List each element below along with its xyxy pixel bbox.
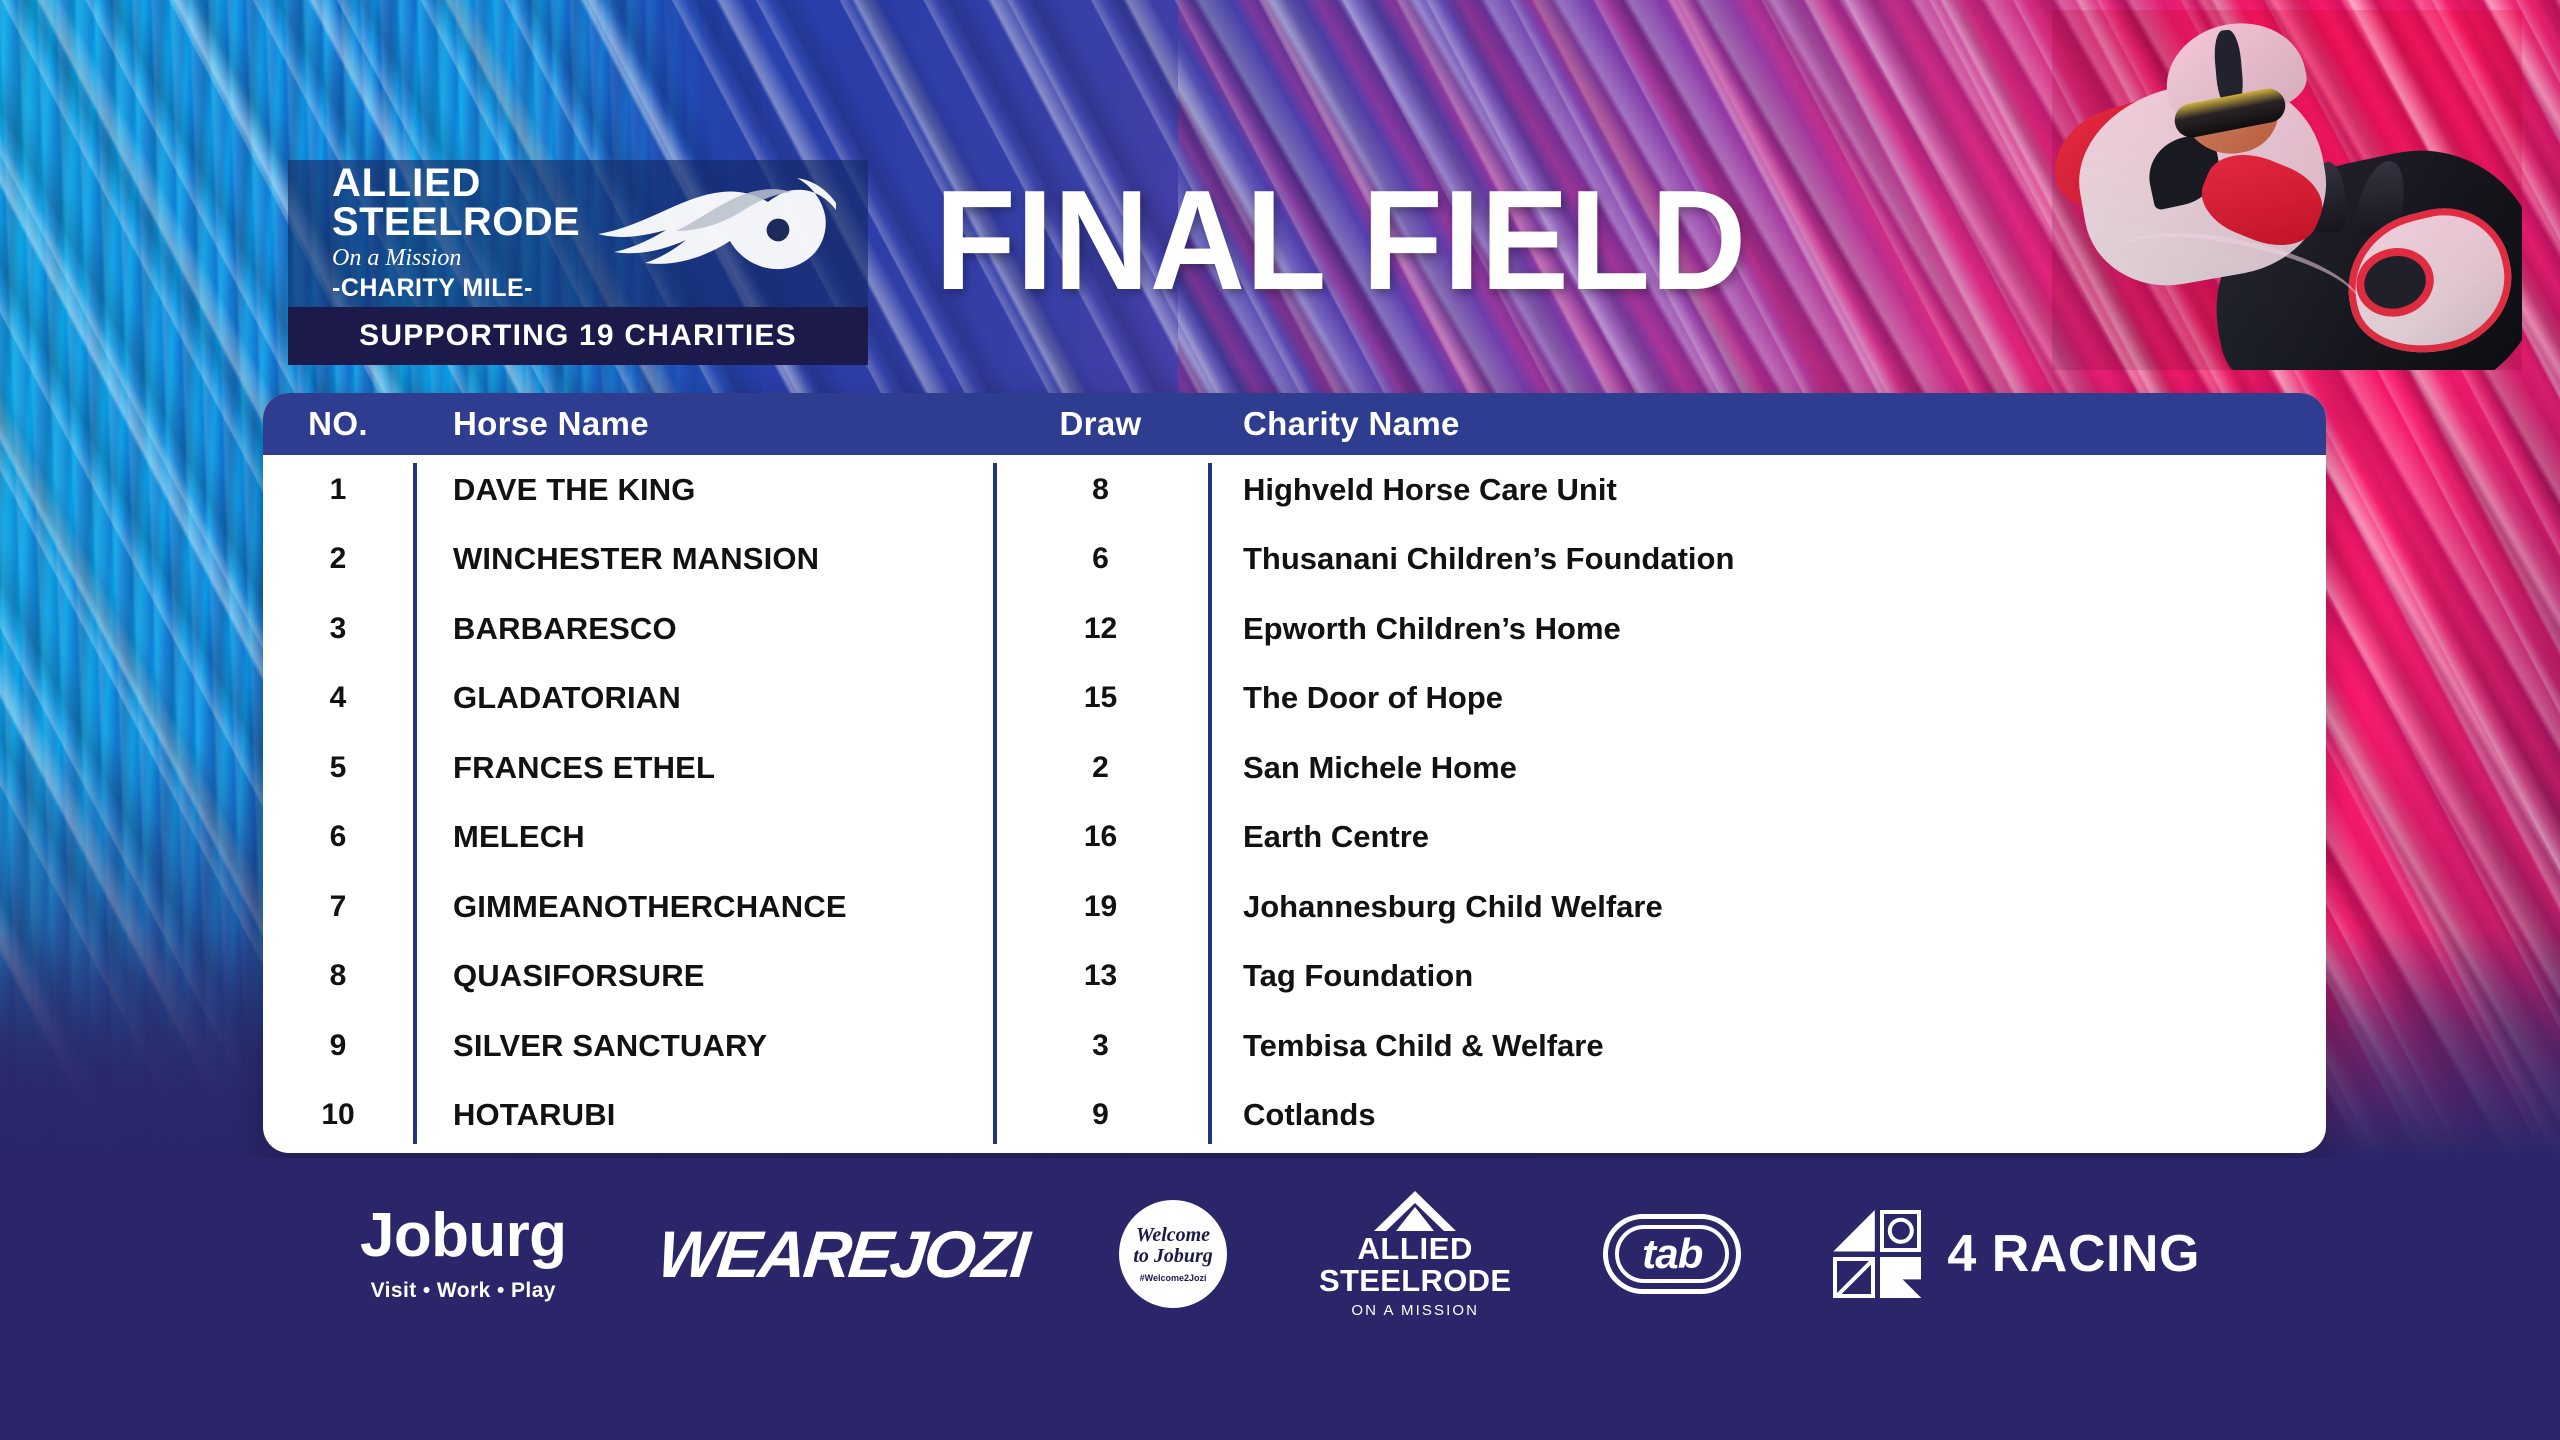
cell-no: 1 [263, 473, 413, 507]
allied-line3: ON A MISSION [1351, 1302, 1479, 1319]
cell-draw: 6 [993, 542, 1208, 576]
final-field-table-card: NO. Horse Name Draw Charity Name 1 DAVE … [263, 393, 2326, 1153]
cell-horse: DAVE THE KING [413, 472, 993, 508]
welcome-circle-badge: Welcome to Joburg #Welcome2Jozi [1119, 1200, 1227, 1308]
table-header-row: NO. Horse Name Draw Charity Name [263, 393, 2326, 455]
four-racing-mark-icon [1833, 1210, 1921, 1298]
supporting-charities-text: SUPPORTING 19 CHARITIES [359, 319, 797, 353]
tab-inner-frame: tab [1615, 1225, 1729, 1283]
table-row: 8 QUASIFORSURE 13 Tag Foundation [263, 942, 2326, 1012]
mark-quadrant-triangle [1833, 1210, 1875, 1252]
table-row: 2 WINCHESTER MANSION 6 Thusanani Childre… [263, 525, 2326, 595]
allied-steelrode-charity-mile-badge: ALLIED STEELRODE On a Mission -CHARITY M… [288, 160, 868, 365]
joburg-logo[interactable]: Joburg Visit • Work • Play [360, 1205, 566, 1303]
cell-no: 3 [263, 612, 413, 646]
welcome-line1: Welcome [1136, 1225, 1210, 1246]
cell-horse: WINCHESTER MANSION [413, 541, 993, 577]
cell-horse: GLADATORIAN [413, 680, 993, 716]
cell-no: 5 [263, 751, 413, 785]
welcome-hashtag: #Welcome2Jozi [1140, 1273, 1207, 1283]
cell-draw: 12 [993, 612, 1208, 646]
cell-draw: 8 [993, 473, 1208, 507]
cell-draw: 2 [993, 751, 1208, 785]
tab-logo[interactable]: tab [1603, 1214, 1741, 1294]
we-are-jozi-wordmark: WEAREJOZI [654, 1216, 1031, 1292]
cell-no: 9 [263, 1029, 413, 1063]
cell-draw: 16 [993, 820, 1208, 854]
table-row: 10 HOTARUBI 9 Cotlands [263, 1081, 2326, 1151]
cell-draw: 3 [993, 1029, 1208, 1063]
cell-horse: QUASIFORSURE [413, 958, 993, 994]
allied-line1: ALLIED [1357, 1233, 1473, 1265]
badge-wordmark: ALLIED STEELRODE On a Mission -CHARITY M… [288, 164, 580, 303]
cell-charity: Epworth Children’s Home [1208, 611, 2326, 647]
four-racing-wordmark: 4 RACING [1947, 1224, 2200, 1284]
table-row: 3 BARBARESCO 12 Epworth Children’s Home [263, 594, 2326, 664]
cell-no: 8 [263, 959, 413, 993]
cell-horse: HOTARUBI [413, 1097, 993, 1133]
sponsor-footer: Joburg Visit • Work • Play WEAREJOZI Wel… [0, 1158, 2560, 1440]
allied-line2: STEELRODE [1319, 1265, 1511, 1297]
table-row: 5 FRANCES ETHEL 2 San Michele Home [263, 733, 2326, 803]
tab-wordmark: tab [1642, 1230, 1702, 1278]
joburg-tagline: Visit • Work • Play [371, 1279, 556, 1303]
cell-charity: Tag Foundation [1208, 958, 2326, 994]
column-divider [1208, 463, 1212, 1144]
cell-draw: 19 [993, 890, 1208, 924]
page-title: FINAL FIELD [935, 170, 1747, 312]
tab-oval-frame: tab [1603, 1214, 1741, 1294]
mark-quadrant-circle [1880, 1210, 1922, 1252]
welcome-to-joburg-logo[interactable]: Welcome to Joburg #Welcome2Jozi [1119, 1200, 1227, 1308]
cell-horse: FRANCES ETHEL [413, 750, 993, 786]
cell-charity: Tembisa Child & Welfare [1208, 1028, 2326, 1064]
cell-draw: 13 [993, 959, 1208, 993]
cell-horse: SILVER SANCTUARY [413, 1028, 993, 1064]
mark-quadrant-arrow [1880, 1257, 1922, 1299]
column-divider [993, 463, 997, 1144]
four-racing-logo[interactable]: 4 RACING [1833, 1210, 2200, 1298]
jockey-photo [2052, 10, 2522, 370]
cell-charity: Johannesburg Child Welfare [1208, 889, 2326, 925]
cell-draw: 15 [993, 681, 1208, 715]
cell-charity: Thusanani Children’s Foundation [1208, 541, 2326, 577]
cell-charity: Cotlands [1208, 1097, 2326, 1133]
cell-no: 4 [263, 681, 413, 715]
cell-no: 7 [263, 890, 413, 924]
column-header-no: NO. [263, 405, 413, 443]
column-header-horse: Horse Name [413, 405, 993, 443]
table-row: 7 GIMMEANOTHERCHANCE 19 Johannesburg Chi… [263, 872, 2326, 942]
cell-charity: The Door of Hope [1208, 680, 2326, 716]
running-horse-head-icon [540, 176, 840, 306]
column-header-draw: Draw [993, 405, 1208, 443]
cell-no: 6 [263, 820, 413, 854]
cell-no: 10 [263, 1098, 413, 1132]
cell-charity: Highveld Horse Care Unit [1208, 472, 2326, 508]
badge-upper-panel: ALLIED STEELRODE On a Mission -CHARITY M… [288, 160, 868, 307]
table-row: 6 MELECH 16 Earth Centre [263, 803, 2326, 873]
table-row: 9 SILVER SANCTUARY 3 Tembisa Child & Wel… [263, 1011, 2326, 1081]
welcome-line2: to Joburg [1133, 1246, 1212, 1267]
cell-charity: San Michele Home [1208, 750, 2326, 786]
steelrode-roof-icon [1370, 1189, 1460, 1233]
photo-color-overlay [2052, 10, 2522, 370]
allied-steelrode-logo[interactable]: ALLIED STEELRODE ON A MISSION [1319, 1189, 1511, 1318]
table-row: 1 DAVE THE KING 8 Highveld Horse Care Un… [263, 455, 2326, 525]
column-header-charity: Charity Name [1208, 405, 2326, 443]
cell-horse: GIMMEANOTHERCHANCE [413, 889, 993, 925]
cell-charity: Earth Centre [1208, 819, 2326, 855]
joburg-wordmark: Joburg [360, 1205, 566, 1267]
cell-horse: MELECH [413, 819, 993, 855]
we-are-jozi-logo[interactable]: WEAREJOZI [658, 1216, 1027, 1292]
cell-draw: 9 [993, 1098, 1208, 1132]
supporting-charities-banner: SUPPORTING 19 CHARITIES [288, 307, 868, 365]
table-body: 1 DAVE THE KING 8 Highveld Horse Care Un… [263, 455, 2326, 1150]
cell-no: 2 [263, 542, 413, 576]
column-divider [413, 463, 417, 1144]
mark-quadrant-diagonal [1833, 1257, 1875, 1299]
cell-horse: BARBARESCO [413, 611, 993, 647]
table-row: 4 GLADATORIAN 15 The Door of Hope [263, 664, 2326, 734]
